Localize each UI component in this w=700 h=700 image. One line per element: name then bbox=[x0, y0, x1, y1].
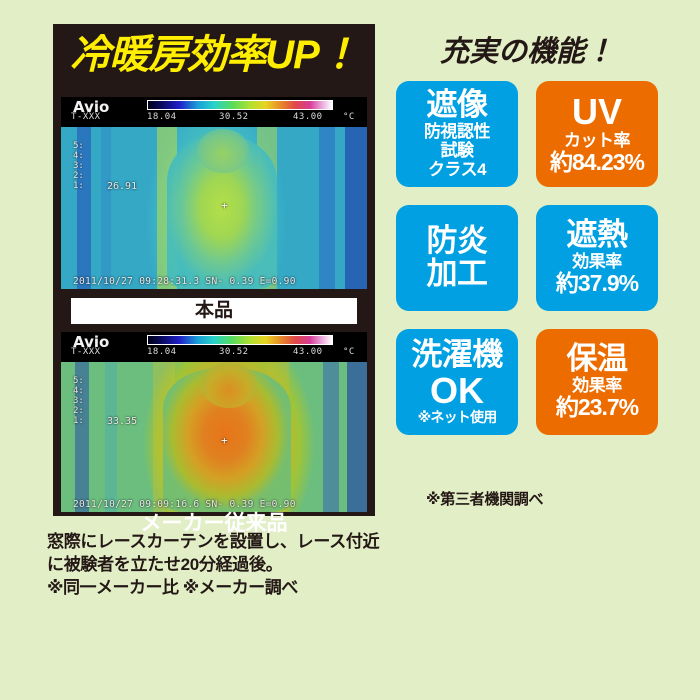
feature-sub-label: 効果率 bbox=[572, 376, 622, 395]
curtain-streak bbox=[323, 362, 339, 512]
feature-box-shanetsu: 遮熱 効果率 約37.9% bbox=[536, 205, 658, 311]
measurement-crosshair-bottom: + bbox=[221, 434, 228, 447]
features-title: 充実の機能！ bbox=[396, 28, 658, 70]
thermal-body-bottom: 5:4:3:2:1: 33.35 + 2011/10/27 09:09:16.6… bbox=[61, 362, 367, 512]
curtain-streak bbox=[105, 362, 117, 512]
temperature-scale-ticks-bottom: T-XXX 18.04 30.52 43.00 °C bbox=[71, 347, 357, 360]
caption-line-3: ※同一メーカー比 ※メーカー調べ bbox=[47, 577, 387, 600]
thermal-image-honpin: Avio T-XXX 18.04 30.52 43.00 °C 5:4:3:2:… bbox=[61, 97, 367, 289]
scale-max-top: 43.00 bbox=[293, 112, 323, 122]
feature-box-sentakuki: 洗濯機 OK ※ネット使用 bbox=[396, 329, 518, 435]
thermal-reading-top: 26.91 bbox=[107, 181, 137, 192]
camera-model-top: T-XXX bbox=[71, 112, 101, 122]
feature-main-label: 遮熱 bbox=[567, 219, 628, 252]
feature-value-label: 約23.7% bbox=[556, 395, 638, 420]
feature-sub-label: 効果率 bbox=[572, 252, 622, 271]
scale-mid-bottom: 30.52 bbox=[219, 347, 249, 357]
features-panel: 充実の機能！ 遮像 防視認性 試験 クラス4 UV カット率 約84.23% 防… bbox=[396, 24, 658, 494]
temperature-color-scale-bottom bbox=[147, 335, 333, 345]
thermal-left-markers-top: 5:4:3:2:1: bbox=[73, 141, 84, 191]
thermal-reading-bottom: 33.35 bbox=[107, 416, 137, 427]
thermal-left-markers-bottom: 5:4:3:2:1: bbox=[73, 376, 84, 426]
measurement-crosshair-top: + bbox=[221, 199, 228, 212]
thermal-header-top: Avio T-XXX 18.04 30.52 43.00 °C bbox=[61, 97, 367, 127]
curtain-streak bbox=[101, 127, 111, 289]
feature-box-bouen: 防炎 加工 bbox=[396, 205, 518, 311]
caption-line-2: に被験者を立たせ20分経過後。 bbox=[47, 554, 387, 577]
subject-head-cold bbox=[197, 129, 249, 173]
feature-box-uv: UV カット率 約84.23% bbox=[536, 81, 658, 187]
thermal-image-conventional: Avio T-XXX 18.04 30.52 43.00 °C 5:4:3:2:… bbox=[61, 332, 367, 512]
feature-sub-label: カット率 bbox=[564, 131, 630, 150]
curtain-streak bbox=[345, 127, 367, 289]
scale-min-bottom: 18.04 bbox=[147, 347, 177, 357]
feature-main-label: UV bbox=[572, 93, 622, 131]
feature-value-label: クラス4 bbox=[428, 160, 486, 179]
temperature-scale-ticks-top: T-XXX 18.04 30.52 43.00 °C bbox=[71, 112, 357, 125]
feature-box-shazou: 遮像 防視認性 試験 クラス4 bbox=[396, 81, 518, 187]
scale-unit-bottom: °C bbox=[343, 347, 355, 357]
curtain-streak bbox=[347, 362, 367, 512]
thermal-body-top: 5:4:3:2:1: 26.91 + 2011/10/27 09:28:31.3… bbox=[61, 127, 367, 289]
scale-unit-top: °C bbox=[343, 112, 355, 122]
headline-text: 冷暖房効率UP！ bbox=[53, 30, 375, 80]
scale-mid-top: 30.52 bbox=[219, 112, 249, 122]
feature-value-label: 約37.9% bbox=[556, 271, 638, 296]
camera-model-bottom: T-XXX bbox=[71, 347, 101, 357]
thermal-timestamp-bottom: 2011/10/27 09:09:16.6 SN- 0.39 E=0.90 bbox=[73, 499, 296, 510]
scale-max-bottom: 43.00 bbox=[293, 347, 323, 357]
feature-main-label: 遮像 bbox=[427, 89, 488, 122]
thermal-timestamp-top: 2011/10/27 09:28:31.3 SN- 0.39 E=0.90 bbox=[73, 276, 296, 287]
feature-value-label: 約84.23% bbox=[550, 150, 644, 175]
test-conditions-caption: 窓際にレースカーテンを設置し、レース付近 に被験者を立たせ20分経過後。 ※同一… bbox=[47, 531, 387, 600]
label-honpin: 本品 bbox=[71, 298, 357, 324]
feature-main-label: 保温 bbox=[567, 343, 628, 376]
scale-min-top: 18.04 bbox=[147, 112, 177, 122]
feature-small-label: ※ネット使用 bbox=[418, 410, 497, 425]
feature-box-hoon: 保温 効果率 約23.7% bbox=[536, 329, 658, 435]
temperature-color-scale-top bbox=[147, 100, 333, 110]
caption-line-1: 窓際にレースカーテンを設置し、レース付近 bbox=[47, 531, 387, 554]
feature-sub-label: 防視認性 bbox=[424, 122, 490, 141]
third-party-footnote: ※第三者機関調べ bbox=[426, 488, 543, 509]
feature-grid: 遮像 防視認性 試験 クラス4 UV カット率 約84.23% 防炎 加工 遮熱… bbox=[396, 81, 658, 435]
subject-head-warm bbox=[201, 362, 257, 408]
feature-main2-label: 加工 bbox=[427, 258, 488, 291]
curtain-streak bbox=[319, 127, 335, 289]
thermal-comparison-panel: 冷暖房効率UP！ Avio T-XXX 18.04 30.52 43.00 °C bbox=[53, 24, 375, 516]
feature-main2-label: OK bbox=[430, 372, 484, 410]
feature-sub2-label: 試験 bbox=[441, 141, 474, 160]
thermal-header-bottom: Avio T-XXX 18.04 30.52 43.00 °C bbox=[61, 332, 367, 362]
feature-main-label: 洗濯機 bbox=[411, 339, 503, 372]
feature-main-label: 防炎 bbox=[427, 225, 488, 258]
